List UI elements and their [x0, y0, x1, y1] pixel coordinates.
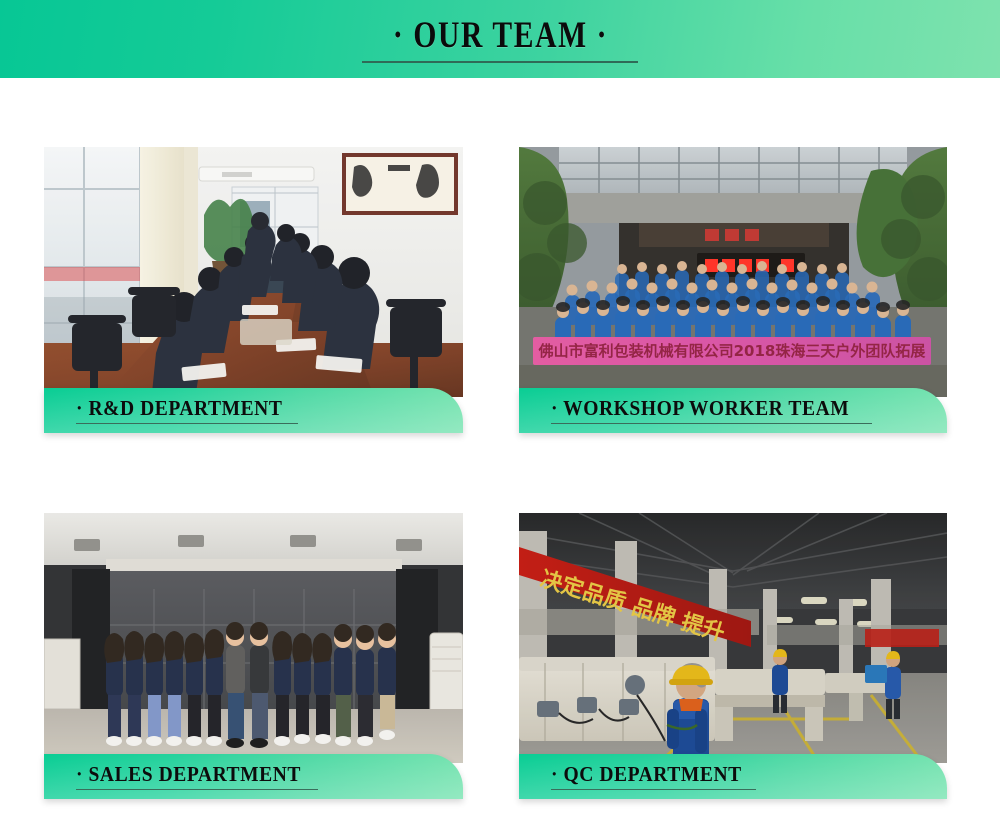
photo-workshop-illustration: 佛山市富利包装机械有限公司2018珠海三天户外团队拓展 — [519, 147, 947, 397]
caption-label-qc-department: · QC DEPARTMENT — [551, 764, 742, 785]
team-card-workshop-worker-team[interactable]: 佛山市富利包装机械有限公司2018珠海三天户外团队拓展 · WORKSHOP W… — [519, 147, 947, 433]
photo-rnd-illustration — [44, 147, 463, 397]
caption-bar-sales-department: · SALES DEPARTMENT — [44, 754, 463, 799]
photo-workshop-worker-team: 佛山市富利包装机械有限公司2018珠海三天户外团队拓展 — [519, 147, 947, 397]
team-card-row: · SALES DEPARTMENT — [44, 513, 947, 799]
caption-bar-rnd-department: · R&D DEPARTMENT — [44, 388, 463, 433]
team-card-row: · R&D DEPARTMENT — [44, 147, 947, 433]
photo-sales-illustration — [44, 513, 463, 763]
our-team-page: · OUR TEAM · — [0, 0, 1000, 824]
page-title: · OUR TEAM · — [392, 17, 607, 54]
photo-rnd-department — [44, 147, 463, 397]
caption-underline: · QC DEPARTMENT — [551, 764, 756, 790]
team-card-sales-department[interactable]: · SALES DEPARTMENT — [44, 513, 463, 799]
team-card-qc-department[interactable]: 决定品质 品牌 提升 — [519, 513, 947, 799]
photo-sales-department — [44, 513, 463, 763]
page-title-underline: · OUR TEAM · — [362, 17, 639, 63]
caption-underline: · WORKSHOP WORKER TEAM — [551, 398, 872, 424]
caption-bar-qc-department: · QC DEPARTMENT — [519, 754, 947, 799]
caption-label-workshop-worker-team: · WORKSHOP WORKER TEAM — [551, 398, 849, 419]
team-card-rnd-department[interactable]: · R&D DEPARTMENT — [44, 147, 463, 433]
caption-label-rnd-department: · R&D DEPARTMENT — [76, 398, 282, 419]
caption-underline: · R&D DEPARTMENT — [76, 398, 298, 424]
team-card-grid: · R&D DEPARTMENT — [44, 147, 947, 799]
caption-label-sales-department: · SALES DEPARTMENT — [76, 764, 301, 785]
caption-underline: · SALES DEPARTMENT — [76, 764, 318, 790]
page-header-banner: · OUR TEAM · — [0, 0, 1000, 78]
photo-qc-illustration: 决定品质 品牌 提升 — [519, 513, 947, 763]
photo-qc-department: 决定品质 品牌 提升 — [519, 513, 947, 763]
caption-bar-workshop-worker-team: · WORKSHOP WORKER TEAM — [519, 388, 947, 433]
